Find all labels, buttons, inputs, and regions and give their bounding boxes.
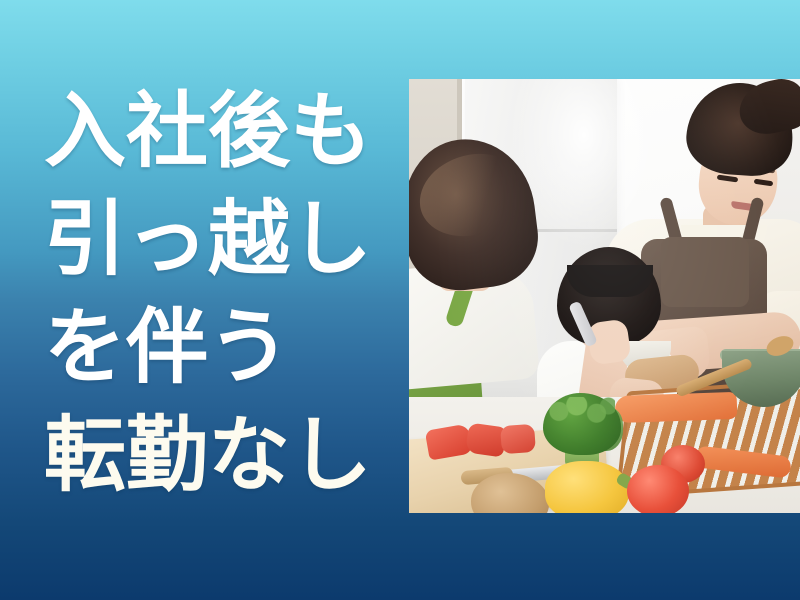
headline-line-4: 転勤なし [44,402,384,510]
family-cooking-photo [409,79,800,513]
bell-pepper [545,461,629,513]
headline-line-1: 入社後も [44,78,384,186]
headline-block: 入社後も 引っ越し を伴う 転勤なし [44,78,384,510]
headline-line-2: 引っ越し [44,186,384,294]
carrot [615,392,738,423]
tomato-slice-c [500,424,536,454]
child-bangs [567,265,653,297]
broccoli-florets [549,397,615,433]
father-apron-bib [661,237,749,307]
tomato-whole-front [627,465,689,513]
photo-scene [409,79,800,513]
recruitment-banner: 入社後も 引っ越し を伴う 転勤なし [0,0,800,600]
headline-line-3: を伴う [44,294,384,402]
